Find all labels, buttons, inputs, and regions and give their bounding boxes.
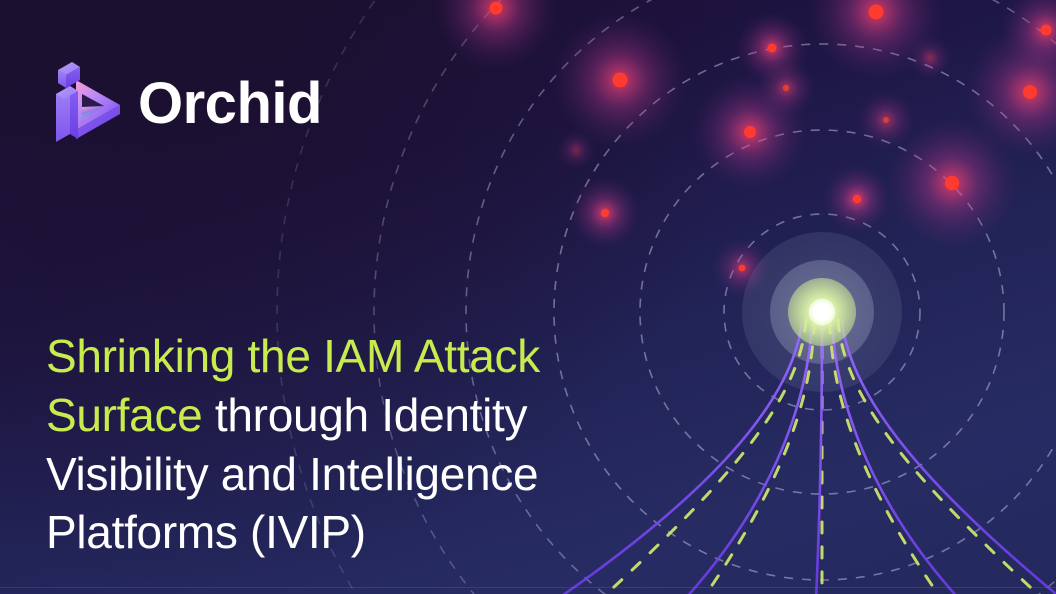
footer-divider: [0, 587, 1056, 588]
hub-core: [788, 278, 856, 346]
threat-node: [856, 90, 916, 150]
orchid-isometric-play-logo-icon: [48, 58, 122, 154]
threat-node-group: [434, 0, 1056, 298]
threat-node: [886, 117, 1018, 249]
threat-node: [823, 165, 891, 233]
threat-node: [736, 12, 808, 84]
threat-node: [692, 74, 808, 190]
brand-logo[interactable]: Orchid: [48, 58, 322, 154]
threat-node: [908, 36, 952, 80]
threat-node: [756, 58, 816, 118]
threat-node: [569, 177, 641, 249]
threat-node: [712, 238, 772, 298]
presentation-slide: Orchid Shrinking the IAM Attack Surface …: [0, 0, 1056, 594]
beam-dashed: [600, 320, 1044, 594]
threat-node: [552, 12, 688, 148]
hub-halos: [742, 232, 902, 392]
threat-node: [556, 130, 596, 170]
page-title: Shrinking the IAM Attack Surface through…: [46, 327, 646, 563]
threat-node: [964, 26, 1056, 158]
threat-node: [1000, 0, 1056, 76]
brand-wordmark: Orchid: [138, 75, 322, 137]
threat-node: [808, 0, 944, 80]
threat-node: [434, 0, 558, 70]
